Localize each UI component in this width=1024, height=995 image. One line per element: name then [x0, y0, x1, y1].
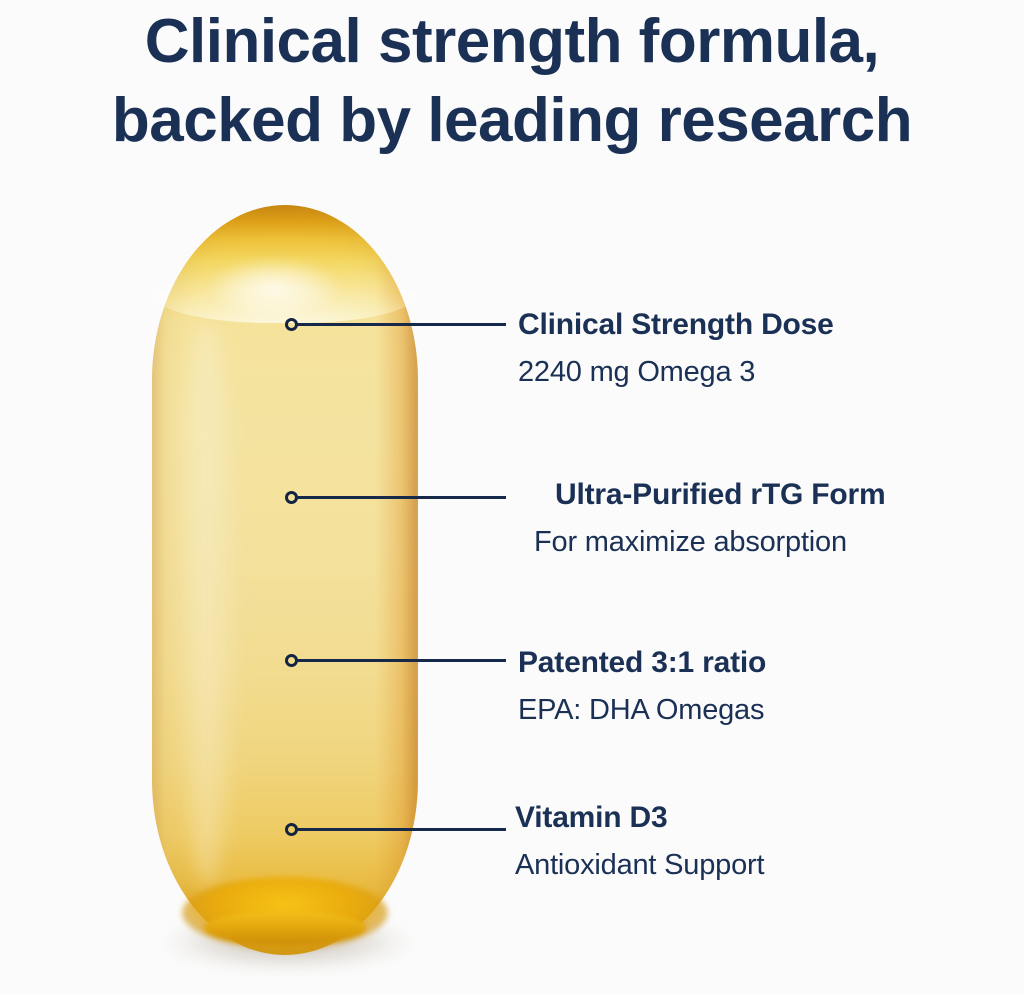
callout-subtitle: For maximize absorption: [534, 528, 847, 557]
capsule-side-sheen: [176, 325, 238, 885]
callout-title: Patented 3:1 ratio: [518, 648, 766, 678]
leader-line: [296, 323, 506, 326]
leader-line: [296, 496, 506, 499]
callout-title: Ultra-Purified rTG Form: [555, 480, 885, 510]
softgel-capsule: [152, 205, 418, 955]
page-title: Clinical strength formula, backed by lea…: [0, 0, 1024, 161]
page-title-line-1: Clinical strength formula,: [0, 2, 1024, 81]
capsule-drop-shadow: [168, 915, 408, 969]
callout-subtitle: EPA: DHA Omegas: [518, 696, 764, 725]
leader-line: [296, 828, 506, 831]
callout-title: Vitamin D3: [515, 803, 668, 833]
capsule-base-pool: [182, 877, 388, 949]
callout-subtitle: Antioxidant Support: [515, 851, 764, 880]
callout-title: Clinical Strength Dose: [518, 310, 834, 340]
leader-line: [296, 659, 506, 662]
callout-subtitle: 2240 mg Omega 3: [518, 358, 755, 387]
capsule-base-rim: [204, 911, 366, 945]
page-title-line-2: backed by leading research: [0, 81, 1024, 160]
capsule-crown-highlight: [152, 205, 418, 323]
capsule-specular-highlight: [210, 259, 338, 317]
